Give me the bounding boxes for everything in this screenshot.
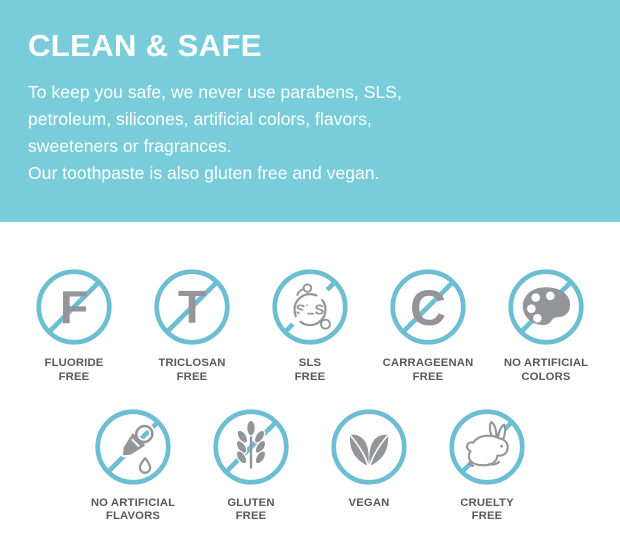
badge-label-line-1: TRICLOSAN (158, 357, 225, 369)
badge-label: GLUTEN FREE (227, 497, 274, 525)
badge-label: FLUORIDE FREE (45, 357, 104, 385)
badge-carrageenan-free: C CARRAGEENAN FREE (369, 264, 487, 385)
dropper-shape (118, 422, 155, 459)
gluten-free-icon (208, 404, 294, 490)
header-banner: CLEAN & SAFE To keep you safe, we never … (0, 0, 620, 222)
badge-no-artificial-colors: NO ARTIFICIAL COLORS (487, 264, 605, 385)
badge-label-line-1: CARRAGEENAN (383, 357, 474, 369)
badge-label: NO ARTIFICIAL FLAVORS (91, 497, 175, 525)
badge-label-line-2: FREE (295, 371, 326, 385)
badge-label: SLS FREE (295, 357, 326, 385)
badge-row-1: F FLUORIDE FREE T TRICLOSAN FREE (0, 222, 620, 385)
badge-label: CARRAGEENAN FREE (383, 357, 474, 385)
svg-text:C: C (410, 280, 446, 336)
badge-label-line-1: CRUELTY (460, 497, 514, 509)
badge-label: CRUELTY FREE (460, 497, 514, 525)
badge-label-line-1: FLUORIDE (45, 357, 104, 369)
badge-label-line-2: FLAVORS (91, 510, 175, 524)
badge-label-line-1: GLUTEN (227, 497, 274, 509)
badge-label: TRICLOSAN FREE (158, 357, 225, 385)
fluoride-free-icon: F (31, 264, 117, 350)
header-description-line-1: To keep you safe, we never use parabens,… (28, 79, 592, 106)
svg-text:F: F (60, 281, 88, 333)
badge-label-line-2: FREE (45, 371, 104, 385)
vegan-icon (326, 404, 412, 490)
badge-label-line-1: SLS (299, 357, 321, 369)
badge-label-line-2: FREE (158, 371, 225, 385)
rabbit-shape (467, 422, 508, 466)
badge-no-artificial-flavors: NO ARTIFICIAL FLAVORS (74, 404, 192, 525)
palette-shape (523, 287, 570, 325)
badge-label: NO ARTIFICIAL COLORS (504, 357, 588, 385)
carrageenan-free-icon: C (385, 264, 471, 350)
badge-label-line-2: COLORS (504, 371, 588, 385)
badge-fluoride-free: F FLUORIDE FREE (15, 264, 133, 385)
header-description: To keep you safe, we never use parabens,… (28, 79, 592, 188)
sls-free-icon: SLS (267, 264, 353, 350)
badge-triclosan-free: T TRICLOSAN FREE (133, 264, 251, 385)
badge-row-2: NO ARTIFICIAL FLAVORS (0, 385, 620, 525)
badge-label-line-1: VEGAN (349, 497, 390, 509)
leaves-shape (350, 434, 388, 465)
badge-label: VEGAN (349, 497, 390, 511)
badge-label-line-1: NO ARTIFICIAL (504, 357, 588, 369)
badge-sls-free: SLS SLS FREE (251, 264, 369, 385)
clean-and-safe-infographic: CLEAN & SAFE To keep you safe, we never … (0, 0, 620, 555)
badge-label-line-2: FREE (460, 510, 514, 524)
badge-label-line-2: FREE (383, 371, 474, 385)
cruelty-free-icon (444, 404, 530, 490)
page-title: CLEAN & SAFE (28, 30, 592, 63)
badge-grid: F FLUORIDE FREE T TRICLOSAN FREE (0, 222, 620, 524)
badge-cruelty-free: CRUELTY FREE (428, 404, 546, 525)
badge-label-line-1: NO ARTIFICIAL (91, 497, 175, 509)
badge-vegan: VEGAN (310, 404, 428, 511)
header-description-line-2: petroleum, silicones, artificial colors,… (28, 106, 592, 133)
header-description-line-3: sweeteners or fragrances. (28, 133, 592, 160)
no-artificial-colors-icon (503, 264, 589, 350)
wheat-shape (234, 420, 267, 468)
triclosan-free-icon: T (149, 264, 235, 350)
no-artificial-flavors-icon (90, 404, 176, 490)
svg-text:T: T (178, 281, 206, 333)
header-description-line-4: Our toothpaste is also gluten free and v… (28, 160, 592, 187)
badge-gluten-free: GLUTEN FREE (192, 404, 310, 525)
badge-label-line-2: FREE (227, 510, 274, 524)
